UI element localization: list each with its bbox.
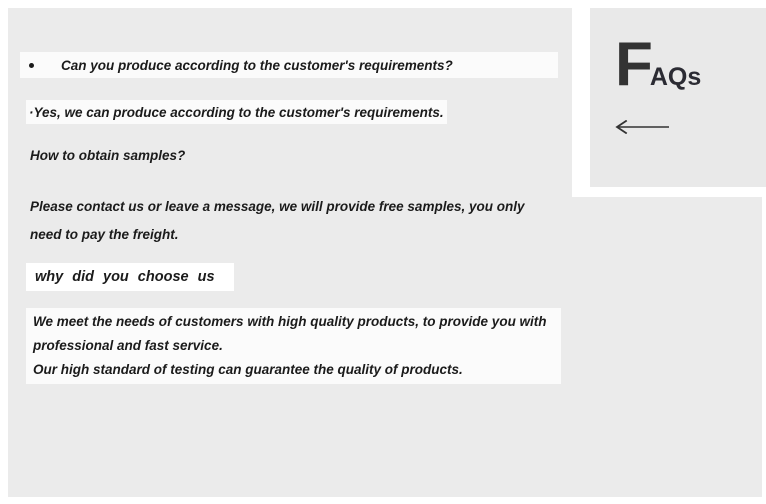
faq-answer-2-text: Please contact us or leave a message, we… bbox=[30, 193, 540, 249]
page-root: Can you produce according to the custome… bbox=[0, 0, 766, 504]
why-choose-us-body-line-2: Our high standard of testing can guarant… bbox=[26, 358, 561, 382]
faq-wordmark-aqs: AQs bbox=[650, 65, 701, 90]
faq-wordmark: F AQs bbox=[615, 36, 701, 94]
why-choose-us-body-block: We meet the needs of customers with high… bbox=[26, 308, 561, 384]
bullet-icon bbox=[29, 63, 34, 68]
faq-answer-1-row: ·Yes, we can produce according to the cu… bbox=[26, 100, 447, 124]
why-choose-us-body-line-1: We meet the needs of customers with high… bbox=[26, 310, 548, 358]
faq-question-2-text: How to obtain samples? bbox=[30, 148, 185, 163]
why-choose-us-title-block: why did you choose us bbox=[26, 263, 234, 291]
faq-wordmark-letter-f: F bbox=[615, 36, 652, 94]
arrow-left-icon[interactable] bbox=[614, 120, 670, 134]
faq-answer-1-text: ·Yes, we can produce according to the cu… bbox=[29, 105, 444, 120]
faq-branding-panel: F AQs bbox=[590, 8, 766, 187]
why-choose-us-title-text: why did you choose us bbox=[35, 269, 215, 285]
faq-question-1-text: Can you produce according to the custome… bbox=[61, 58, 453, 73]
faq-content-panel: Can you produce according to the custome… bbox=[8, 8, 572, 497]
faq-question-1-row: Can you produce according to the custome… bbox=[20, 52, 558, 78]
